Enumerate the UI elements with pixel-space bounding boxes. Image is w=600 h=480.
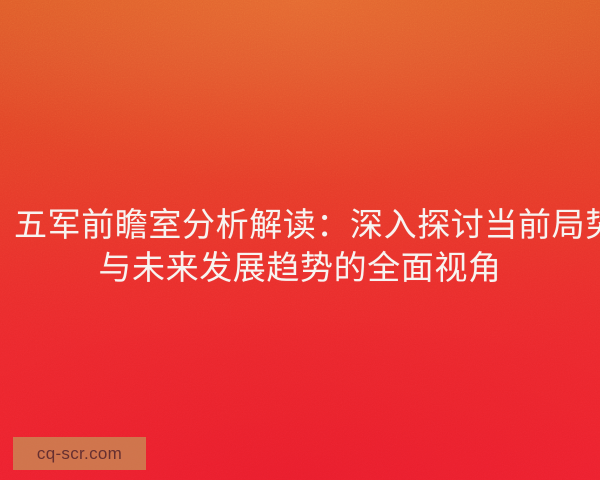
cover-image: 五军前瞻室分析解读：深入探讨当前局势 与未来发展趋势的全面视角 cq-scr.c… [0,0,600,480]
title-line-2: 与未来发展趋势的全面视角 [14,246,586,289]
title-line-1: 五军前瞻室分析解读：深入探讨当前局势 [14,203,586,246]
watermark-label: cq-scr.com [37,445,122,462]
page-title: 五军前瞻室分析解读：深入探讨当前局势 与未来发展趋势的全面视角 [0,203,600,289]
watermark-badge: cq-scr.com [13,437,146,470]
